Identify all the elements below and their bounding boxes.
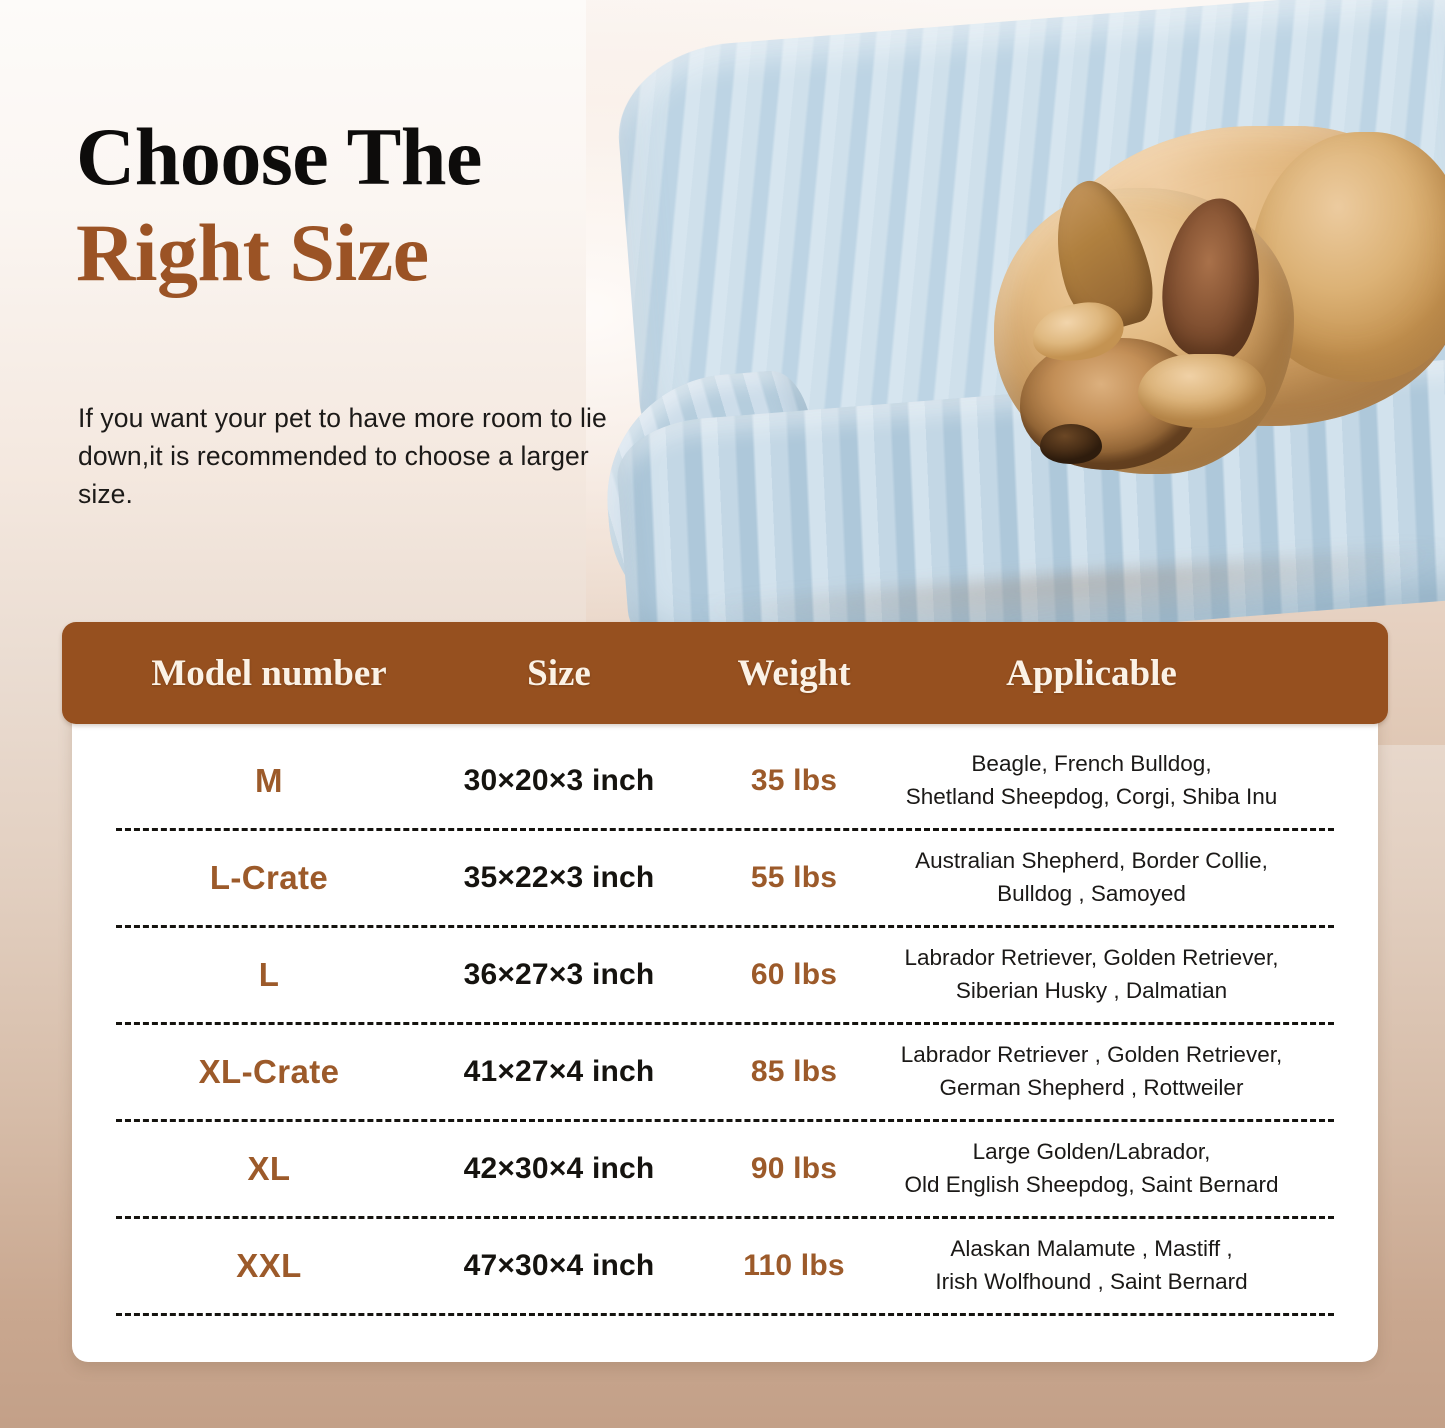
row-divider [116,1313,1334,1316]
applicable-line-2: Irish Wolfhound , Saint Bernard [894,1266,1289,1299]
cell-model: XL [114,1150,424,1188]
cell-weight: 110 lbs [694,1249,894,1283]
cell-weight: 90 lbs [694,1152,894,1186]
applicable-line-1: Beagle, French Bulldog, [894,748,1289,781]
cell-weight: 35 lbs [694,764,894,798]
table-header-row: Model number Size Weight Applicable [62,622,1388,724]
cell-applicable: Labrador Retriever, Golden Retriever, Si… [894,942,1289,1008]
applicable-line-1: Australian Shepherd, Border Collie, [894,845,1289,878]
applicable-line-1: Alaskan Malamute , Mastiff , [894,1233,1289,1266]
applicable-line-2: German Shepherd , Rottweiler [894,1072,1289,1105]
cell-applicable: Beagle, French Bulldog, Shetland Sheepdo… [894,748,1289,814]
table-row: M 30×20×3 inch 35 lbs Beagle, French Bul… [72,734,1378,828]
cell-size: 30×20×3 inch [424,764,694,798]
cell-applicable: Labrador Retriever , Golden Retriever, G… [894,1039,1289,1105]
column-header-weight: Weight [694,652,894,695]
table-body: M 30×20×3 inch 35 lbs Beagle, French Bul… [72,710,1378,1362]
cell-model: XL-Crate [114,1053,424,1091]
cell-model: L [114,956,424,994]
table-row: XXL 47×30×4 inch 110 lbs Alaskan Malamut… [72,1219,1378,1313]
applicable-line-2: Shetland Sheepdog, Corgi, Shiba Inu [894,781,1289,814]
cell-model: XXL [114,1247,424,1285]
cell-applicable: Alaskan Malamute , Mastiff , Irish Wolfh… [894,1233,1289,1299]
table-row: L 36×27×3 inch 60 lbs Labrador Retriever… [72,928,1378,1022]
headline-line-1: Choose The [76,116,696,198]
dog-front-paw [1138,354,1266,428]
cell-size: 41×27×4 inch [424,1055,694,1089]
french-bulldog-illustration [902,92,1445,522]
dog-nose [1040,424,1102,464]
applicable-line-2: Old English Sheepdog, Saint Bernard [894,1169,1289,1202]
size-chart-table: M 30×20×3 inch 35 lbs Beagle, French Bul… [62,622,1388,724]
table-row: XL 42×30×4 inch 90 lbs Large Golden/Labr… [72,1122,1378,1216]
cell-model: M [114,762,424,800]
cell-size: 47×30×4 inch [424,1249,694,1283]
cell-applicable: Australian Shepherd, Border Collie, Bull… [894,845,1289,911]
applicable-line-1: Large Golden/Labrador, [894,1136,1289,1169]
cell-size: 42×30×4 inch [424,1152,694,1186]
cell-applicable: Large Golden/Labrador, Old English Sheep… [894,1136,1289,1202]
applicable-line-2: Bulldog , Samoyed [894,878,1289,911]
dog-head [994,188,1294,474]
cell-size: 35×22×3 inch [424,861,694,895]
headline-line-2: Right Size [76,212,696,294]
applicable-line-2: Siberian Husky , Dalmatian [894,975,1289,1008]
cell-weight: 60 lbs [694,958,894,992]
column-header-applicable: Applicable [894,652,1289,695]
column-header-model-number: Model number [114,652,424,695]
infographic-canvas: Choose The Right Size If you want your p… [0,0,1445,1428]
table-row: L-Crate 35×22×3 inch 55 lbs Australian S… [72,831,1378,925]
column-header-size: Size [424,652,694,695]
applicable-line-1: Labrador Retriever, Golden Retriever, [894,942,1289,975]
table-row: XL-Crate 41×27×4 inch 85 lbs Labrador Re… [72,1025,1378,1119]
cell-size: 36×27×3 inch [424,958,694,992]
applicable-line-1: Labrador Retriever , Golden Retriever, [894,1039,1289,1072]
cell-weight: 85 lbs [694,1055,894,1089]
subtitle-text: If you want your pet to have more room t… [78,399,618,513]
cell-model: L-Crate [114,859,424,897]
page-title: Choose The Right Size [76,116,696,294]
cell-weight: 55 lbs [694,861,894,895]
